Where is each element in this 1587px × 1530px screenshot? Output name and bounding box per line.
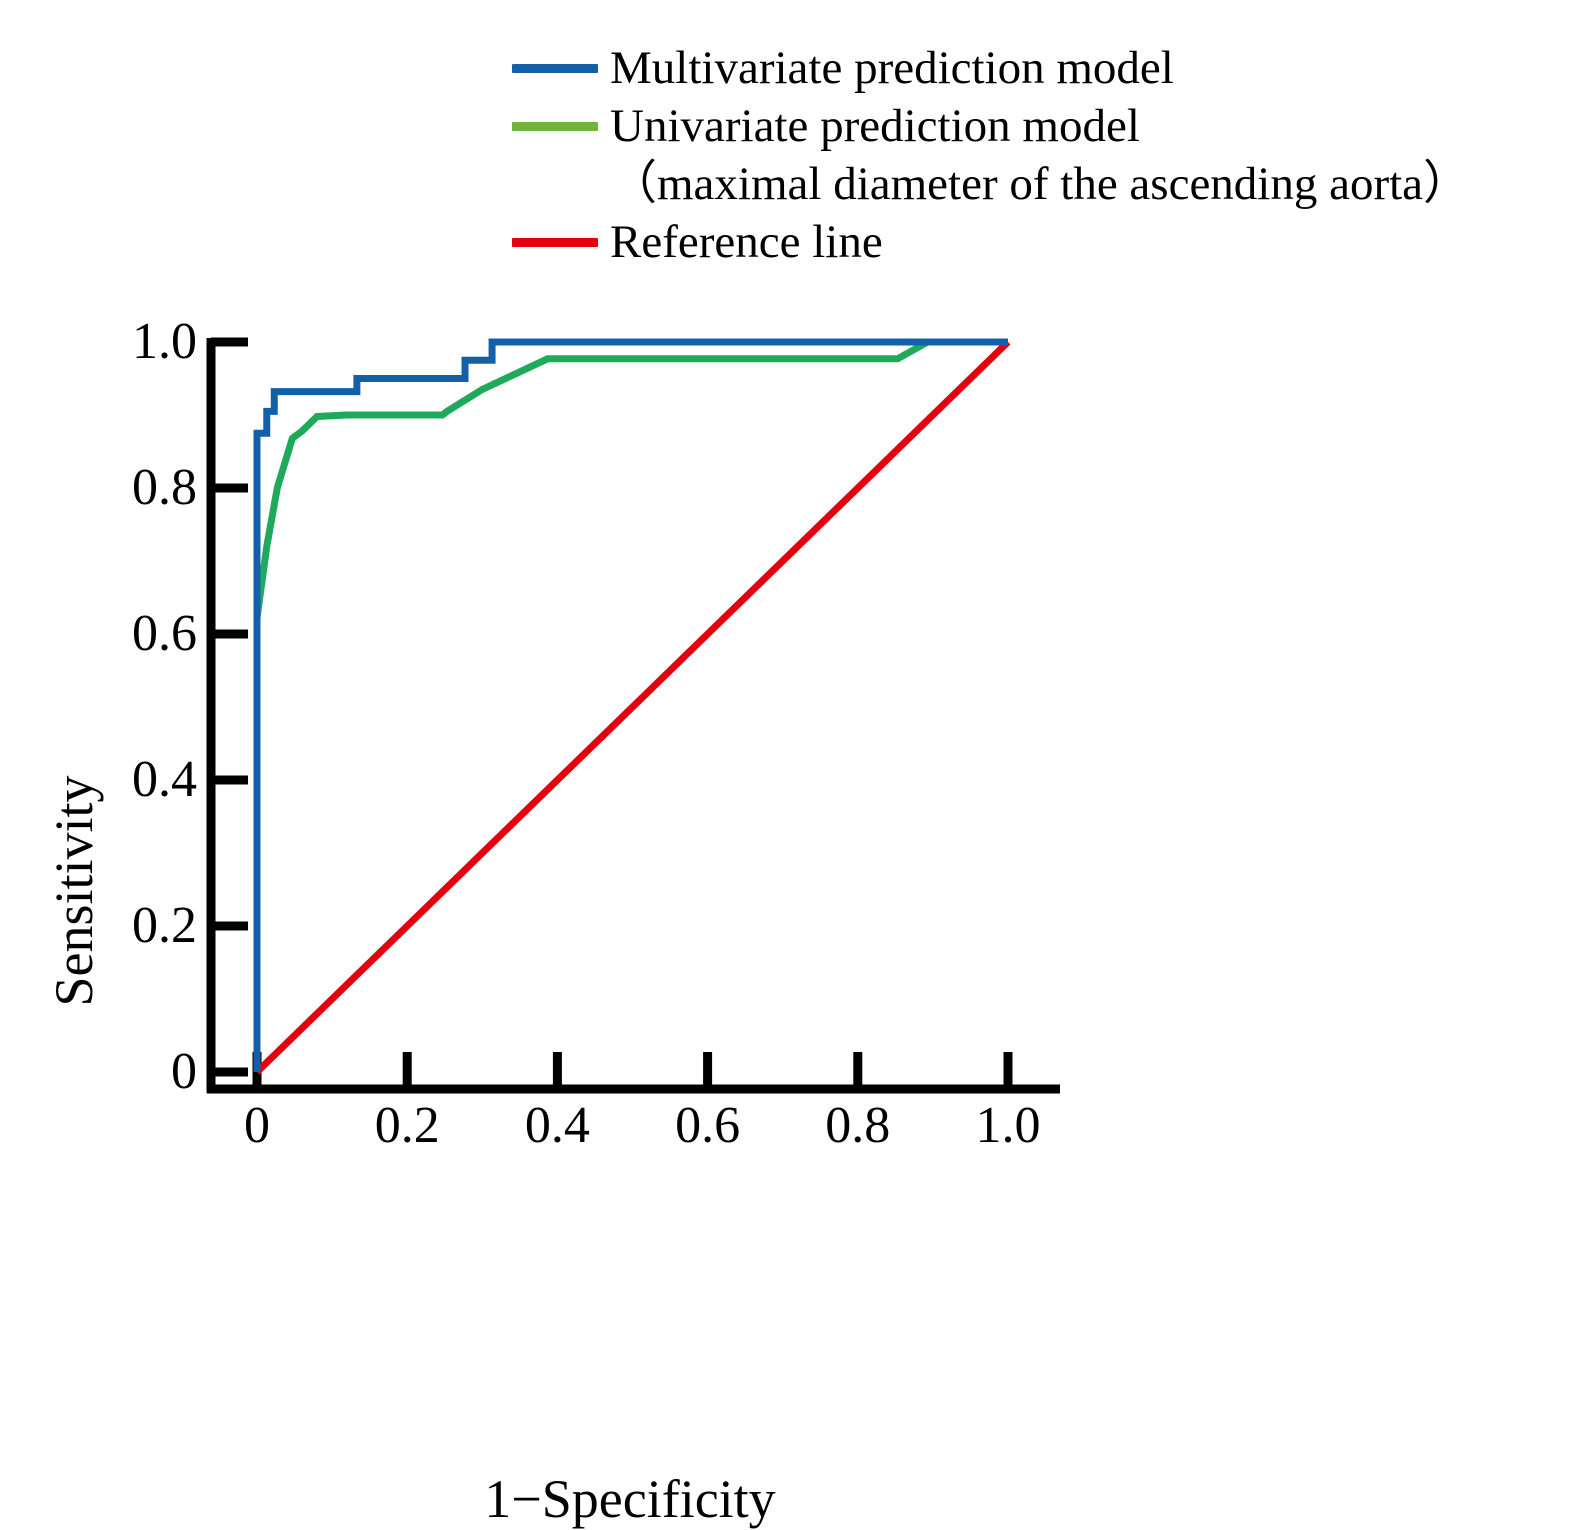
x-tick-label: 0.6 <box>628 1100 788 1152</box>
legend-swatch-multivariate-wrap <box>512 40 610 96</box>
legend-line-swatch-univariate <box>512 122 598 131</box>
chart-legend: Multivariate prediction model Univariate… <box>512 40 1572 272</box>
legend-label-univariate: Univariate prediction model <box>610 98 1140 154</box>
legend-label-univariate-sub: （maximal diameter of the ascending aorta… <box>610 156 1470 212</box>
y-axis-tick-marks <box>211 342 248 1072</box>
y-tick-label: 0.6 <box>0 608 197 660</box>
x-tick-label: 1.0 <box>928 1100 1088 1152</box>
x-tick-label: 0 <box>177 1100 337 1152</box>
legend-item-univariate-sub: （maximal diameter of the ascending aorta… <box>512 156 1572 212</box>
x-tick-label: 0.2 <box>327 1100 487 1152</box>
y-tick-label: 1.0 <box>0 316 197 368</box>
x-axis-title: 1−Specificity <box>380 1468 880 1530</box>
roc-curve-figure: Multivariate prediction model Univariate… <box>0 0 1587 1262</box>
x-tick-label: 0.4 <box>477 1100 637 1152</box>
legend-item-multivariate: Multivariate prediction model <box>512 40 1572 96</box>
data-series-group <box>257 342 1008 1072</box>
legend-line-swatch-multivariate <box>512 64 598 73</box>
y-axis-title: Sensitivity <box>43 731 105 1051</box>
legend-line-swatch-reference <box>512 238 598 247</box>
roc-plot-svg <box>0 300 1200 1130</box>
axis-lines <box>207 338 1060 1093</box>
legend-item-reference: Reference line <box>512 214 1572 270</box>
legend-swatch-univariate-wrap <box>512 98 610 154</box>
y-tick-label: 0.8 <box>0 462 197 514</box>
y-tick-label: 0 <box>0 1046 197 1098</box>
legend-label-reference: Reference line <box>610 214 883 270</box>
series-line-reference <box>257 342 1008 1072</box>
x-axis-tick-marks <box>257 1052 1008 1089</box>
legend-label-multivariate: Multivariate prediction model <box>610 40 1174 96</box>
x-tick-label: 0.8 <box>778 1100 938 1152</box>
legend-swatch-reference-wrap <box>512 214 610 270</box>
plot-area: 00.20.40.60.81.0 00.20.40.60.81.0 Sensit… <box>0 300 1200 1130</box>
legend-item-univariate: Univariate prediction model <box>512 98 1572 154</box>
